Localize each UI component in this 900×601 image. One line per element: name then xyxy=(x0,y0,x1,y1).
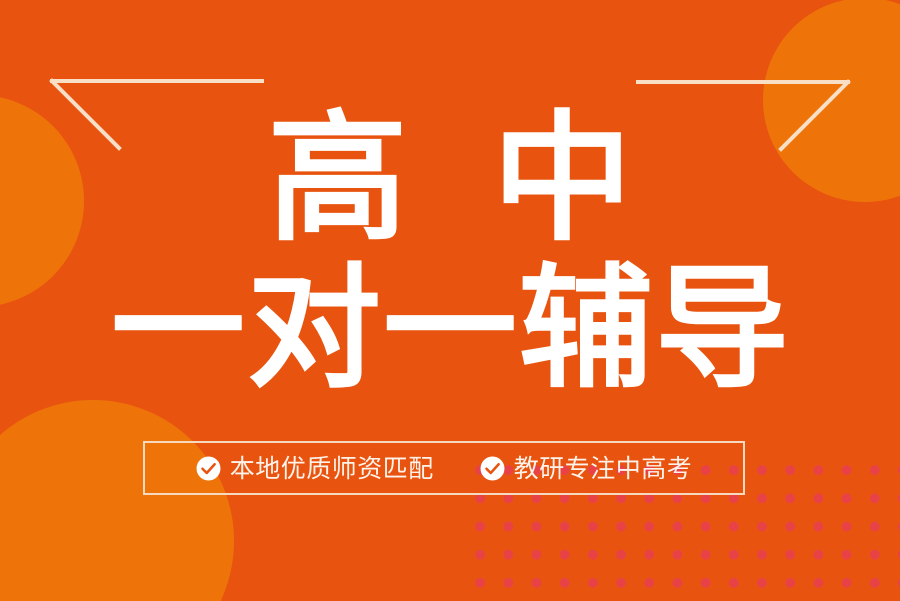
corner-bracket-left-icon xyxy=(44,70,274,162)
headline-line-1: 高 中 xyxy=(0,104,900,256)
headline-line-2: 一对一辅导 xyxy=(0,256,900,402)
feature-item-1: 本地优质师资匹配 xyxy=(196,455,434,482)
feature-label-1: 本地优质师资匹配 xyxy=(230,455,434,482)
headline: 高 中 一对一辅导 xyxy=(0,104,900,402)
feature-badge: 本地优质师资匹配 教研专注中高考 xyxy=(143,441,745,495)
check-circle-icon xyxy=(480,456,505,481)
feature-item-2: 教研专注中高考 xyxy=(480,455,693,482)
feature-label-2: 教研专注中高考 xyxy=(514,455,693,482)
circle-left-decoration xyxy=(0,95,84,307)
check-circle-icon xyxy=(196,456,221,481)
promo-banner: 高 中 一对一辅导 本地优质师资匹配 教研专注中高考 xyxy=(0,0,900,601)
circle-top-right-decoration xyxy=(763,0,900,202)
corner-bracket-right-icon xyxy=(626,70,856,162)
circle-bottom-left-decoration xyxy=(0,400,234,601)
